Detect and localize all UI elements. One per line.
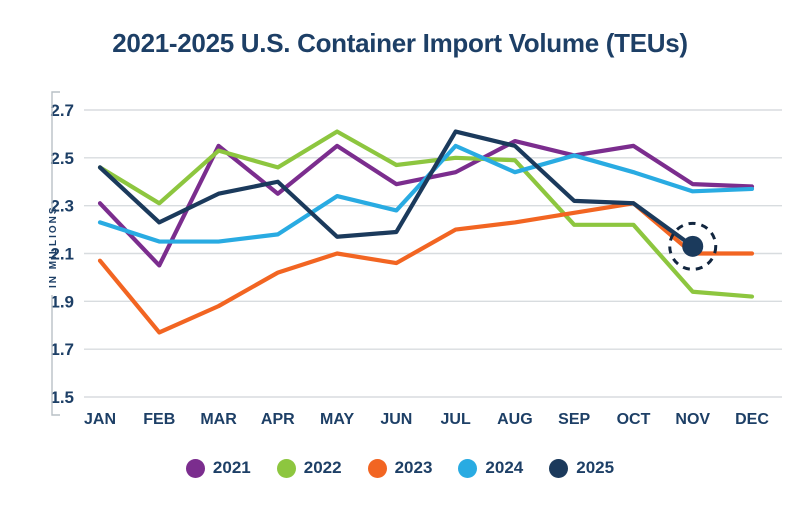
legend-item-label: 2024 — [485, 458, 523, 478]
legend-item-2021[interactable]: 2021 — [186, 458, 251, 478]
y-axis-tick-label: 2.7 — [50, 101, 74, 120]
series-line-2022 — [100, 132, 752, 297]
legend-item-2023[interactable]: 2023 — [368, 458, 433, 478]
y-axis-tick-label: 1.7 — [50, 340, 74, 359]
x-axis-tick-label: JAN — [84, 411, 116, 428]
x-axis-tick-label: JUN — [380, 411, 412, 428]
legend-item-label: 2021 — [213, 458, 251, 478]
x-axis-tick-label: NOV — [675, 411, 710, 428]
x-axis-tick-label: APR — [261, 411, 295, 428]
line-chart: 1.51.71.92.12.32.52.7IN MILLIONSJANFEBMA… — [0, 0, 800, 520]
legend-swatch-icon — [549, 459, 568, 478]
legend-swatch-icon — [368, 459, 387, 478]
legend-swatch-icon — [186, 459, 205, 478]
x-axis-tick-label: SEP — [558, 411, 590, 428]
x-axis-tick-label: OCT — [617, 411, 651, 428]
legend-item-label: 2025 — [576, 458, 614, 478]
y-axis-tick-label: 1.9 — [50, 292, 74, 311]
legend-item-2024[interactable]: 2024 — [458, 458, 523, 478]
chart-plot-area: 1.51.71.92.12.32.52.7IN MILLIONSJANFEBMA… — [0, 0, 800, 520]
x-axis-tick-label: MAR — [200, 411, 237, 428]
highlight-data-point[interactable] — [682, 236, 703, 257]
legend-swatch-icon — [458, 459, 477, 478]
x-axis-tick-label: DEC — [735, 411, 769, 428]
x-axis-tick-label: AUG — [497, 411, 533, 428]
y-axis-title: IN MILLIONS — [48, 205, 59, 288]
series-line-2023 — [100, 203, 752, 332]
x-axis-tick-label: FEB — [143, 411, 175, 428]
legend-item-label: 2022 — [304, 458, 342, 478]
y-axis-tick-label: 2.5 — [50, 149, 74, 168]
legend-item-2025[interactable]: 2025 — [549, 458, 614, 478]
x-axis-tick-label: JUL — [441, 411, 471, 428]
chart-page: 2021-2025 U.S. Container Import Volume (… — [0, 0, 800, 520]
chart-legend: 20212022202320242025 — [0, 458, 800, 478]
legend-item-label: 2023 — [395, 458, 433, 478]
x-axis-tick-label: MAY — [320, 411, 354, 428]
legend-item-2022[interactable]: 2022 — [277, 458, 342, 478]
y-axis-tick-label: 1.5 — [50, 388, 74, 407]
legend-swatch-icon — [277, 459, 296, 478]
